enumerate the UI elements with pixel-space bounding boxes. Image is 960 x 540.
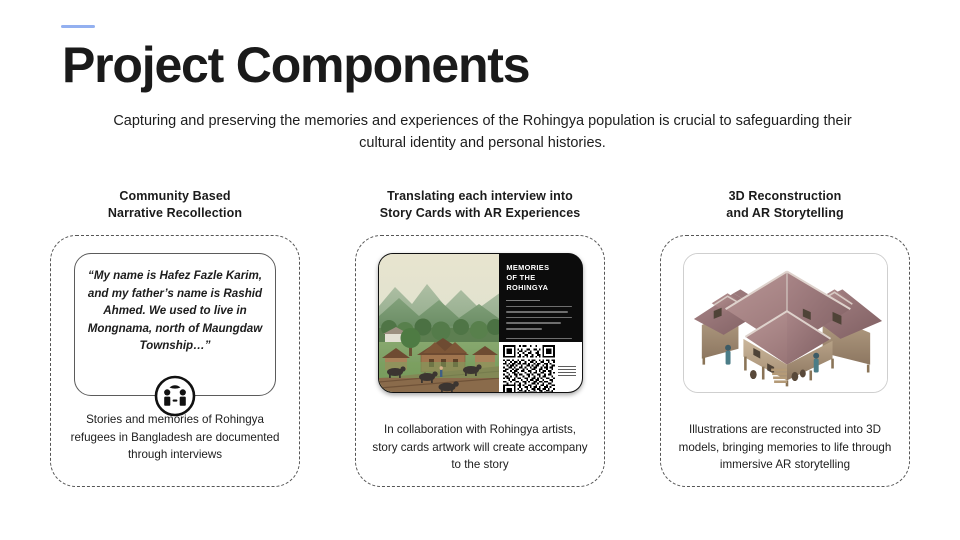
component-column-community-based-narrative-recollection: Community BasedNarrative Recollection “M… bbox=[50, 188, 300, 498]
qr-caption-placeholder bbox=[558, 366, 576, 376]
story-card-image: MEMORIESOF THEROHINGYA bbox=[378, 253, 583, 393]
card-caption: Stories and memories of Rohingya refugee… bbox=[66, 411, 284, 474]
quote-card: “My name is Hafez Fazle Karim, and my fa… bbox=[74, 253, 276, 396]
column-heading: 3D Reconstructionand AR Storytelling bbox=[726, 188, 843, 226]
component-column-3d-reconstruction-and-ar-storytelling: 3D Reconstructionand AR Storytelling bbox=[660, 188, 910, 498]
quote-text: “My name is Hafez Fazle Karim, and my fa… bbox=[86, 267, 264, 355]
qr-code-icon bbox=[503, 345, 555, 393]
accent-rule bbox=[61, 25, 95, 28]
component-card-1: “My name is Hafez Fazle Karim, and my fa… bbox=[50, 235, 300, 487]
card-caption: Illustrations are reconstructed into 3D … bbox=[676, 421, 894, 474]
interview-icon bbox=[154, 375, 196, 417]
story-card-title: MEMORIESOF THEROHINGYA bbox=[506, 263, 574, 294]
story-card-text-panel: MEMORIESOF THEROHINGYA bbox=[499, 254, 581, 392]
slide-canvas: Project Components Capturing and preserv… bbox=[0, 0, 960, 540]
page-title: Project Components bbox=[62, 38, 529, 93]
component-card-2: MEMORIESOF THEROHINGYA bbox=[355, 235, 605, 487]
column-heading: Community BasedNarrative Recollection bbox=[108, 188, 242, 226]
divider bbox=[506, 300, 540, 301]
card-caption: In collaboration with Rohingya artists, … bbox=[371, 421, 589, 474]
village-illustration bbox=[379, 254, 500, 392]
component-card-3: Illustrations are reconstructed into 3D … bbox=[660, 235, 910, 487]
components-columns: Community BasedNarrative Recollection “M… bbox=[0, 188, 960, 498]
slide-subtitle: Capturing and preserving the memories an… bbox=[110, 110, 855, 155]
component-column-story-cards-with-ar: Translating each interview intoStory Car… bbox=[355, 188, 605, 498]
column-heading: Translating each interview intoStory Car… bbox=[380, 188, 581, 226]
model-render-image bbox=[683, 253, 888, 393]
